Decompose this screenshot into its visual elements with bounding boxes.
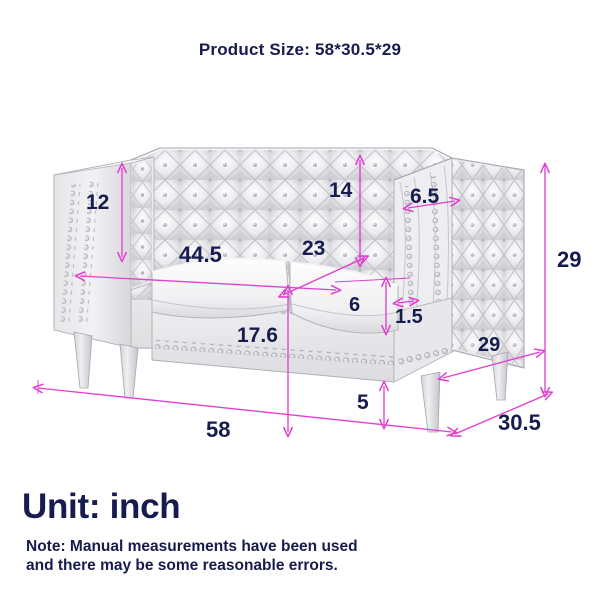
dimension-label-30-5: 30.5 [498, 412, 541, 434]
dimension-label-6-5: 6.5 [410, 186, 439, 207]
dimension-label-12: 12 [86, 192, 109, 213]
dimension-label-29-height: 29 [557, 249, 581, 271]
leg-front-right [421, 372, 440, 432]
note-line-1: Note: Manual measurements have been used [26, 538, 358, 556]
dimension-label-14: 14 [329, 180, 352, 201]
leg-rear-right [492, 352, 508, 400]
dimension-label-17-6: 17.6 [237, 325, 278, 346]
unit-label: Unit: inch [22, 487, 180, 527]
dimension-label-29-depth: 29 [478, 335, 500, 355]
dimension-label-58: 58 [206, 419, 230, 441]
dimension-label-44-5: 44.5 [179, 244, 222, 266]
dimension-label-1-5: 1.5 [395, 307, 423, 327]
dimension-label-23: 23 [302, 238, 325, 259]
dimension-label-5: 5 [357, 392, 369, 413]
leg-rear-left [120, 344, 138, 398]
dimension-line-58 [38, 388, 452, 432]
dimension-label-6: 6 [349, 295, 360, 315]
leg-front-left [74, 332, 92, 388]
note-line-2: and there may be some reasonable errors. [26, 557, 338, 575]
product-dimension-diagram: Product Size: 58*30.5*29 [0, 0, 600, 600]
